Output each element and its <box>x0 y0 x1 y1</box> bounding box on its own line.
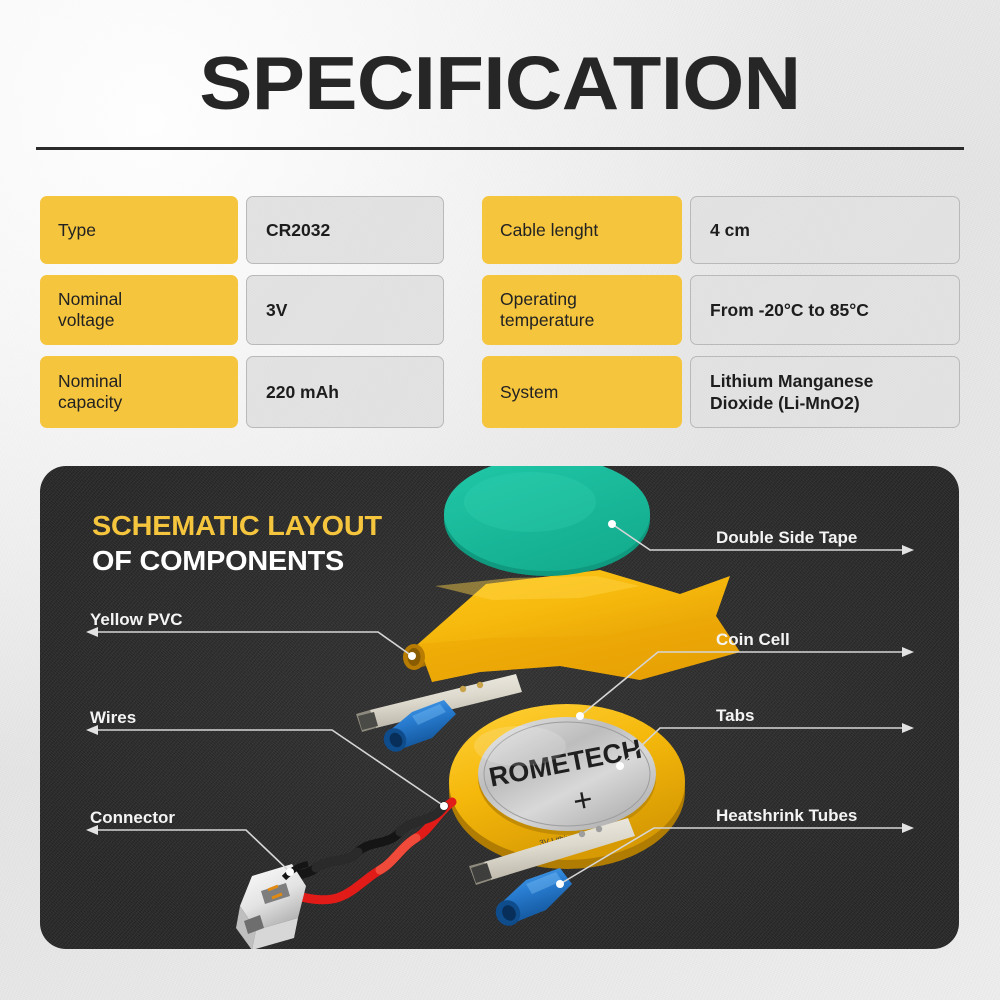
leader-terminator-dots <box>286 520 624 888</box>
callout-label-connector: Connector <box>90 808 175 828</box>
page-title: SPECIFICATION <box>0 44 1000 122</box>
spec-row: Nominal capacity 220 mAh <box>40 356 444 428</box>
spec-label-operating-temperature: Operating temperature <box>482 275 682 345</box>
spec-row: Cable lenght 4 cm <box>482 196 960 264</box>
spec-label-nominal-voltage: Nominal voltage <box>40 275 238 345</box>
callout-label-yellow-pvc: Yellow PVC <box>90 610 183 630</box>
spec-row: Type CR2032 <box>40 196 444 264</box>
spec-row: System Lithium Manganese Dioxide (Li-MnO… <box>482 356 960 428</box>
spec-value-nominal-voltage: 3V <box>246 275 444 345</box>
schematic-panel: SCHEMATIC LAYOUT OF COMPONENTS <box>40 466 959 949</box>
leader-heatshrink-tubes <box>560 828 906 884</box>
spec-value-type: CR2032 <box>246 196 444 264</box>
callout-label-wires: Wires <box>90 708 136 728</box>
spec-label-cable-lenght: Cable lenght <box>482 196 682 264</box>
leader-tabs <box>620 728 906 766</box>
spec-value-system: Lithium Manganese Dioxide (Li-MnO2) <box>690 356 960 428</box>
spec-label-type: Type <box>40 196 238 264</box>
leader-connector <box>94 830 290 872</box>
spec-label-system: System <box>482 356 682 428</box>
callout-label-double-side-tape: Double Side Tape <box>716 528 857 548</box>
title-divider <box>36 147 964 150</box>
spec-value-operating-temperature: From -20°C to 85°C <box>690 275 960 345</box>
spec-value-cable-lenght: 4 cm <box>690 196 960 264</box>
spec-table-left-column: Type CR2032 Nominal voltage 3V Nominal c… <box>40 196 444 439</box>
specification-infographic: SPECIFICATION Type CR2032 Nominal voltag… <box>0 0 1000 1000</box>
leader-yellow-pvc <box>94 632 412 656</box>
leader-wires <box>94 730 444 806</box>
callout-label-coin-cell: Coin Cell <box>716 630 790 650</box>
spec-row: Nominal voltage 3V <box>40 275 444 345</box>
leader-arrowheads <box>86 545 914 835</box>
callout-label-heatshrink-tubes: Heatshrink Tubes <box>716 806 857 826</box>
spec-value-nominal-capacity: 220 mAh <box>246 356 444 428</box>
spec-row: Operating temperature From -20°C to 85°C <box>482 275 960 345</box>
spec-table-right-column: Cable lenght 4 cm Operating temperature … <box>482 196 960 439</box>
callout-label-tabs: Tabs <box>716 706 754 726</box>
spec-label-nominal-capacity: Nominal capacity <box>40 356 238 428</box>
